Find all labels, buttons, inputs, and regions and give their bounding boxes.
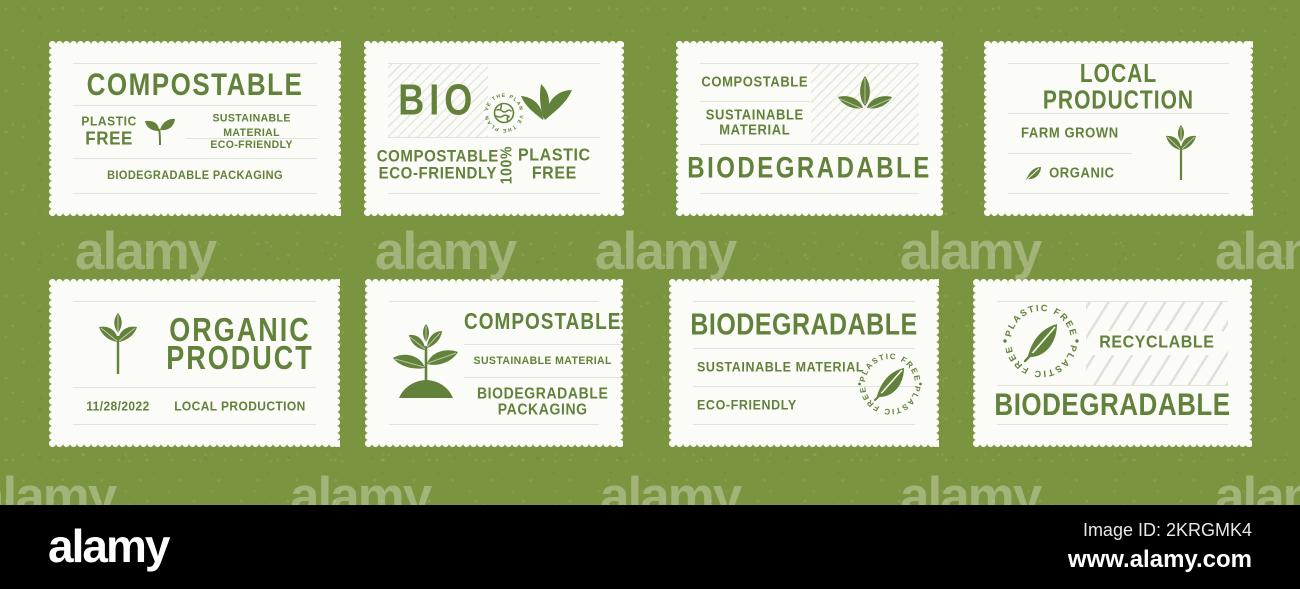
sprout-in-soil-icon (389, 320, 463, 406)
label-compostable-biodegradable: COMPOSTABLE SUSTAINABLE MATERIAL (680, 45, 939, 212)
leaf-circle-badge-icon: PLASTIC FREE PLASTIC FREE (857, 351, 923, 417)
label-compostable-sprout: COMPOSTABLE SUSTAINABLE MATERIAL BIODEGR… (369, 283, 619, 443)
two-leaf-sprig-icon (143, 117, 177, 147)
bio-free-text: FREE (518, 164, 591, 184)
image-id-text: Image ID: 2KRGMK4 (952, 520, 1252, 541)
label-bio: BIO (368, 45, 620, 212)
label-biodegradable-plastic-free: BIODEGRADABLE SUSTAINABLE MATERIAL ECO-F… (673, 283, 935, 443)
alamy-footer-bar: alamy Image ID: 2KRGMK4 www.alamy.com (0, 505, 1300, 589)
biodegradable-title: BIODEGRADABLE (994, 388, 1230, 421)
leaf-branch-icon (89, 312, 147, 376)
leaf-circle-badge-icon: PLASTIC FREE PLASTIC FREE (1002, 302, 1080, 385)
organic-text: ORGANIC (1049, 165, 1115, 181)
date-text: 11/28/2022 (86, 398, 149, 414)
recyclable-text: RECYCLABLE (1091, 331, 1222, 356)
globe-stamp-icon: SAVE THE PLANET SAVE THE PLANET (481, 90, 527, 136)
leaf-branch-icon (1156, 124, 1206, 182)
label-recyclable-biodegradable: PLASTIC FREE PLASTIC FREE (977, 283, 1248, 443)
sustainable-material-text: SUSTAINABLE MATERIAL (186, 112, 317, 139)
bio-title: BIO (398, 77, 477, 123)
packaging-line2: PACKAGING (477, 400, 608, 418)
alamy-url-text: www.alamy.com (952, 546, 1252, 574)
biodegradable-title: BIODEGRADABLE (687, 153, 932, 184)
local-production-text: LOCAL PRODUCTION (174, 398, 306, 414)
label-organic-product: ORGANIC PRODUCT 11/28/2022 LOCAL PRODUCT… (53, 283, 336, 443)
biodegradable-title: BIODEGRADABLE (690, 309, 917, 341)
bio-eco-friendly-text: ECO-FRIENDLY (377, 165, 499, 184)
compostable-title: COMPOSTABLE (464, 311, 621, 335)
sustainable-material-text: SUSTAINABLE MATERIAL (697, 360, 864, 376)
eco-label-grid: COMPOSTABLE PLASTIC FREE (0, 0, 1300, 500)
farm-grown-text: FARM GROWN (1021, 125, 1119, 141)
sustainable-material-text: SUSTAINABLE MATERIAL (474, 354, 612, 368)
trefoil-three-leaf-icon (834, 73, 896, 135)
label-title: COMPOSTABLE (87, 68, 304, 101)
plastic-free-line2: FREE (81, 128, 137, 150)
biodegradable-packaging-text: BIODEGRADABLE PACKAGING (107, 169, 283, 183)
label-compostable-plastic-free: COMPOSTABLE PLASTIC FREE (53, 45, 337, 212)
svg-text:SAVE THE PLANET: SAVE THE PLANET (481, 90, 524, 112)
small-leaf-icon (1025, 166, 1042, 181)
alamy-logo: alamy (48, 523, 168, 569)
svg-text:PLASTIC FREE: PLASTIC FREE (1003, 303, 1079, 338)
eco-friendly-text: ECO-FRIENDLY (210, 138, 293, 152)
local-production-title: LOCAL PRODUCTION (1008, 62, 1229, 116)
eco-friendly-text: ECO-FRIENDLY (697, 398, 797, 414)
sustainable-line2: MATERIAL (706, 122, 804, 138)
organic-title-line2: PRODUCT (166, 341, 314, 376)
compostable-text: COMPOSTABLE (701, 74, 808, 90)
bio-percent-text: 100% (497, 146, 515, 184)
label-local-production: LOCAL PRODUCTION FARM GROWN (988, 45, 1249, 212)
